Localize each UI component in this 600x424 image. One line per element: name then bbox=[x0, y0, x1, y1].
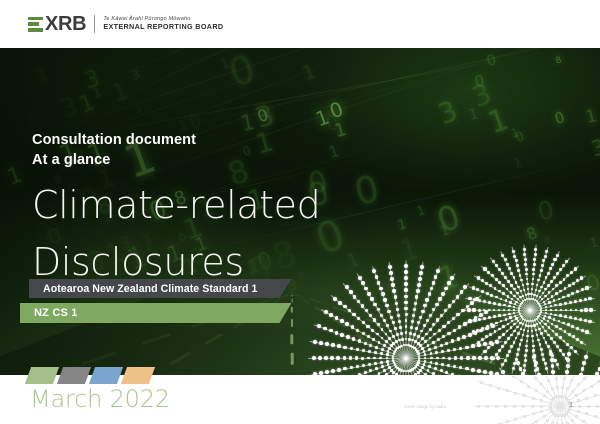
image-credit: Cover image by nadla bbox=[404, 404, 446, 409]
burst-dot bbox=[549, 352, 553, 356]
logo-divider bbox=[94, 15, 95, 33]
page-footer: March 2022 bbox=[0, 375, 600, 424]
burst-dot bbox=[534, 361, 538, 365]
stripe-grey bbox=[57, 367, 91, 384]
hero-cover-image: 1100130811010381011001108310101100130811… bbox=[0, 48, 600, 375]
burst-dot bbox=[550, 358, 554, 362]
stripe-tan bbox=[121, 367, 155, 384]
stripe-blue bbox=[89, 367, 123, 384]
document-title-line-1: Climate-related bbox=[32, 184, 320, 227]
logo-wordmark: XRB bbox=[45, 14, 86, 34]
burst-dot bbox=[566, 358, 570, 362]
burst-dot bbox=[532, 355, 536, 359]
burst-dot bbox=[516, 361, 520, 365]
brand-stripe-bar bbox=[28, 367, 152, 384]
hero-title-block: Consultation document At a glance Climat… bbox=[32, 130, 320, 284]
stripe-green bbox=[25, 367, 59, 384]
publication-date: March 2022 bbox=[30, 385, 170, 413]
burst-dot bbox=[565, 370, 569, 374]
document-title-line-2: Disclosures bbox=[32, 241, 320, 284]
burst-dot bbox=[582, 361, 586, 365]
document-kicker-line-1: Consultation document bbox=[32, 130, 320, 150]
page-header: XRB Te Kāwai Ārahi Pūrongo Mōwaho EXTERN… bbox=[0, 0, 600, 48]
document-cover-page: XRB Te Kāwai Ārahi Pūrongo Mōwaho EXTERN… bbox=[0, 0, 600, 424]
burst-dot bbox=[566, 364, 570, 368]
xrb-logo: XRB Te Kāwai Ārahi Pūrongo Mōwaho EXTERN… bbox=[28, 14, 223, 34]
logo-tagline-english: EXTERNAL REPORTING BOARD bbox=[103, 23, 223, 31]
document-kicker-line-2: At a glance bbox=[32, 150, 320, 170]
standard-code-banner: NZ CS 1 bbox=[20, 303, 291, 323]
burst-dot bbox=[551, 364, 555, 368]
standard-banner-group: Aotearoa New Zealand Climate Standard 1 … bbox=[20, 279, 291, 323]
standard-name-banner: Aotearoa New Zealand Climate Standard 1 bbox=[29, 279, 291, 298]
page-number: 1 bbox=[569, 402, 573, 409]
burst-dot bbox=[567, 352, 571, 356]
burst-dot bbox=[584, 355, 588, 359]
burst-dot bbox=[519, 367, 523, 371]
logo-tagline: Te Kāwai Ārahi Pūrongo Mōwaho EXTERNAL R… bbox=[103, 16, 223, 31]
burst-dot bbox=[536, 367, 540, 371]
burst-dot bbox=[581, 367, 585, 371]
burst-dot bbox=[551, 370, 555, 374]
xrb-logo-mark-icon bbox=[28, 17, 43, 32]
